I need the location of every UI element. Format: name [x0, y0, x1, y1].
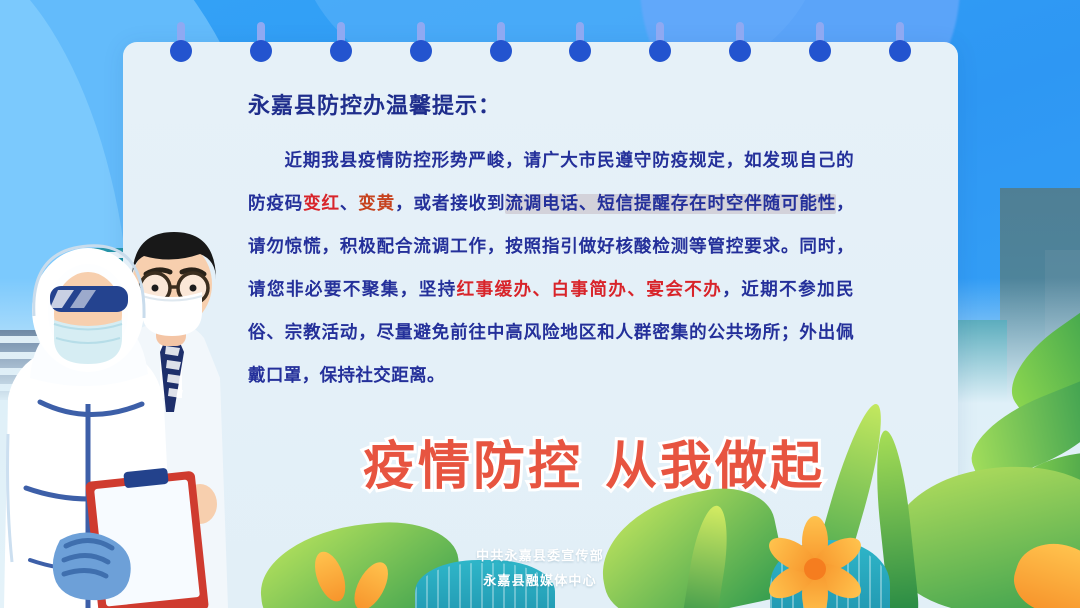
binder-ring	[495, 0, 507, 56]
binder-ring	[335, 0, 347, 56]
paragraph-seg-3: ，或者接收到	[395, 194, 505, 214]
page-title: 永嘉县防控办温馨提示：	[248, 88, 501, 120]
footer-line-2: 永嘉县融媒体中心	[0, 569, 1080, 594]
binder-ring-head	[170, 40, 192, 62]
notice-paragraph: 近期我县疫情防控形势严峻，请广大市民遵守防疫规定，如发现自己的防疫码变红、变黄，…	[248, 140, 854, 398]
binder-ring-head	[250, 40, 272, 62]
binder-ring	[175, 0, 187, 56]
binder-ring	[814, 0, 826, 56]
binder-ring	[734, 0, 746, 56]
paragraph-marker-highlight: 流调电话、短信提醒存在时空伴随可能性	[505, 194, 836, 214]
binder-ring-head	[410, 40, 432, 62]
binder-ring-head	[569, 40, 591, 62]
slogan-headline: 疫情防控从我做起	[363, 424, 825, 499]
binder-ring	[574, 0, 586, 56]
paragraph-seg-2: 、	[340, 194, 358, 214]
footer-credits: 中共永嘉县委宣传部 永嘉县融媒体中心	[0, 544, 1080, 594]
paragraph-highlight-red-2: 红事缓办、白事简办、宴会不办	[457, 280, 723, 300]
binder-rings	[123, 0, 958, 80]
binder-ring	[415, 0, 427, 56]
binder-ring	[654, 0, 666, 56]
binder-ring-head	[729, 40, 751, 62]
binder-ring-head	[889, 40, 911, 62]
footer-line-1: 中共永嘉县委宣传部	[0, 544, 1080, 569]
binder-ring-head	[330, 40, 352, 62]
paragraph-highlight-orange-1: 变黄	[358, 194, 395, 214]
slogan-part-1: 疫情防控	[363, 437, 583, 497]
binder-ring	[255, 0, 267, 56]
binder-ring-head	[809, 40, 831, 62]
binder-ring	[894, 0, 906, 56]
binder-ring-head	[649, 40, 671, 62]
paragraph-highlight-red-1: 变红	[303, 194, 340, 214]
binder-ring-head	[490, 40, 512, 62]
poster-canvas: 永嘉县防控办温馨提示： 近期我县疫情防控形势严峻，请广大市民遵守防疫规定，如发现…	[0, 0, 1080, 608]
